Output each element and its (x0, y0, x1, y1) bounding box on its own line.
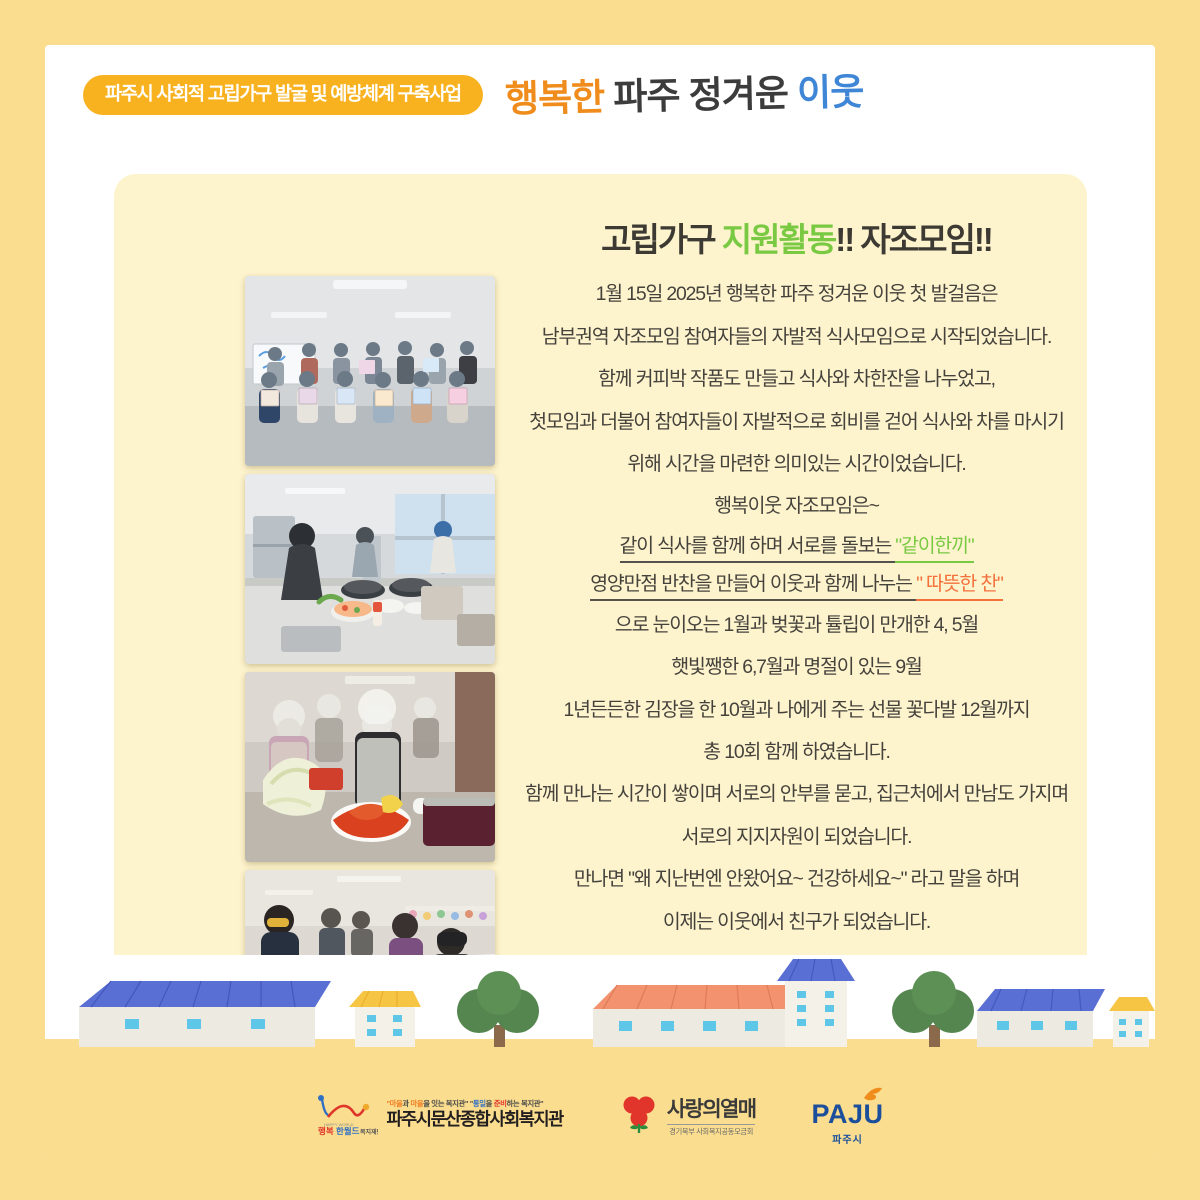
tagline-seg-8: 하는 복지관" (507, 1099, 544, 1108)
body-line: 서로의 지지자원이 되었습니다. (524, 817, 1069, 859)
house-blue-right (977, 989, 1105, 1047)
welfare-center-name: 파주시문산종합사회복지관 (386, 1110, 562, 1129)
poster-header: 파주시 사회적 고립가구 발굴 및 예방체계 구축사업 행복한 파주 정겨운 이… (45, 57, 1155, 133)
content-card: 고립가구 지원활동!! 자조모임!! 1월 15일 2025년 행복한 파주 정… (114, 174, 1087, 1059)
photo-kimjang-kimchi-image (245, 672, 495, 862)
logo-munsan-welfare-center: HAPPY WORLD 행복 한월드 복지재단 "마을과 마을을 잇는 복지관"… (316, 1093, 562, 1137)
svg-text:복지재단: 복지재단 (360, 1128, 378, 1136)
tagline-seg-1: "마을 (386, 1099, 402, 1108)
tagline-seg-7: 준비 (494, 1099, 507, 1108)
article-text: 고립가구 지원활동!! 자조모임!! 1월 15일 2025년 행복한 파주 정… (524, 222, 1069, 944)
brand-part-2: 파주 정겨운 (613, 72, 788, 117)
body-line: 첫모임과 더불어 참여자들이 자발적으로 회비를 걷어 식사와 차를 마시기 (524, 402, 1069, 444)
tagline-seg-6: 을 (486, 1099, 494, 1108)
brand-part-1: 행복한 (504, 76, 604, 119)
program-line-ttaddeutanchan: 영양만점 반찬을 만들어 이웃과 함께 나누는 " 따뜻한 찬" (524, 567, 1069, 605)
program-line-plain: 영양만점 반찬을 만들어 이웃과 함께 나누는 (590, 562, 916, 601)
body-line: 행복이웃 자조모임은~ (524, 486, 1069, 528)
white-card: 파주시 사회적 고립가구 발굴 및 예방체계 구축사업 행복한 파주 정겨운 이… (45, 45, 1155, 1155)
brand-wordmark: 행복한 파주 정겨운 이웃 (505, 73, 864, 117)
svg-text:한월드: 한월드 (336, 1126, 360, 1136)
program-pill-label: 파주시 사회적 고립가구 발굴 및 예방체계 구축사업 (83, 75, 483, 116)
body-line: 위해 시간을 마련한 의미있는 시간이었습니다. (524, 444, 1069, 486)
tower-yellow-left (349, 991, 421, 1047)
poster-root: 파주시 사회적 고립가구 발굴 및 예방체계 구축사업 행복한 파주 정겨운 이… (0, 0, 1200, 1200)
body-line: 함께 만나는 시간이 쌓이며 서로의 안부를 묻고, 집근처에서 만남도 가지며 (524, 774, 1069, 816)
headline-highlight: 지원활동 (722, 221, 835, 258)
body-line: 햇빛쨍한 6,7월과 명절이 있는 9월 (524, 647, 1069, 689)
body-line: 함께 커피박 작품도 만들고 식사와 차한잔을 나누었고, (524, 359, 1069, 401)
program-name-ttaddeutanchan: " 따뜻한 찬" (916, 562, 1003, 601)
photo-cooking-kitchen (245, 474, 495, 664)
page-title: 고립가구 지원활동!! 자조모임!! (524, 222, 1069, 258)
body-line: 만나면 "왜 지난번엔 안왔어요~ 건강하세요~" 라고 말을 하며 (524, 859, 1069, 901)
photo-group-participants (245, 276, 495, 466)
svg-text:행복: 행복 (318, 1126, 334, 1136)
tagline-seg-3: 마을 (410, 1099, 423, 1108)
house-blue-left (79, 981, 331, 1047)
body-line: 1월 15일 2025년 행복한 파주 정겨운 이웃 첫 발걸음은 (524, 274, 1069, 316)
photo-group-participants-image (245, 276, 495, 466)
tower-yellow-right (1109, 997, 1155, 1047)
program-name-gachihankki: "같이한끼" (895, 524, 973, 563)
body-line: 으로 눈이오는 1월과 벚꽃과 튤립이 만개한 4, 5월 (524, 605, 1069, 647)
paju-city-label: 파주시 (811, 1131, 883, 1146)
paju-wordmark: PAJU (811, 1101, 883, 1128)
fruit-of-love-icon (619, 1094, 659, 1136)
logo-fruit-of-love: 사랑의열매 경기북부 사회복지공동모금회 (619, 1093, 756, 1137)
logo-paju-city: PAJU 파주시 (811, 1085, 883, 1146)
body-line: 1년든든한 김장을 한 10월과 나에게 주는 선물 꽃다발 12월까지 (524, 690, 1069, 732)
tagline-seg-4: 을 잇는 복지관" " (423, 1099, 473, 1108)
photo-kimjang-kimchi (245, 672, 495, 862)
photo-cooking-kitchen-image (245, 474, 495, 664)
brand-part-3: 이웃 (797, 71, 864, 113)
fruit-of-love-name: 사랑의열매 (667, 1093, 756, 1123)
village-illustration (45, 955, 1155, 1075)
footer-logos: HAPPY WORLD 행복 한월드 복지재단 "마을과 마을을 잇는 복지관"… (45, 1075, 1155, 1155)
body-line: 총 10회 함께 하였습니다. (524, 732, 1069, 774)
tagline-seg-5: 통일 (473, 1099, 486, 1108)
headline-after: !! 자조모임!! (835, 221, 992, 258)
program-line-plain: 같이 식사를 함께 하며 서로를 돌보는 (620, 524, 896, 563)
happy-world-emblem-icon: HAPPY WORLD 행복 한월드 복지재단 (316, 1093, 378, 1137)
welfare-center-tagline: "마을과 마을을 잇는 복지관" "통일을 준비하는 복지관" (386, 1100, 562, 1108)
photo-gallery (245, 276, 500, 1059)
headline-before: 고립가구 (601, 221, 722, 258)
fruit-of-love-sub: 경기북부 사회복지공동모금회 (667, 1124, 756, 1137)
body-line: 남부권역 자조모임 참여자들의 자발적 식사모임으로 시작되었습니다. (524, 317, 1069, 359)
